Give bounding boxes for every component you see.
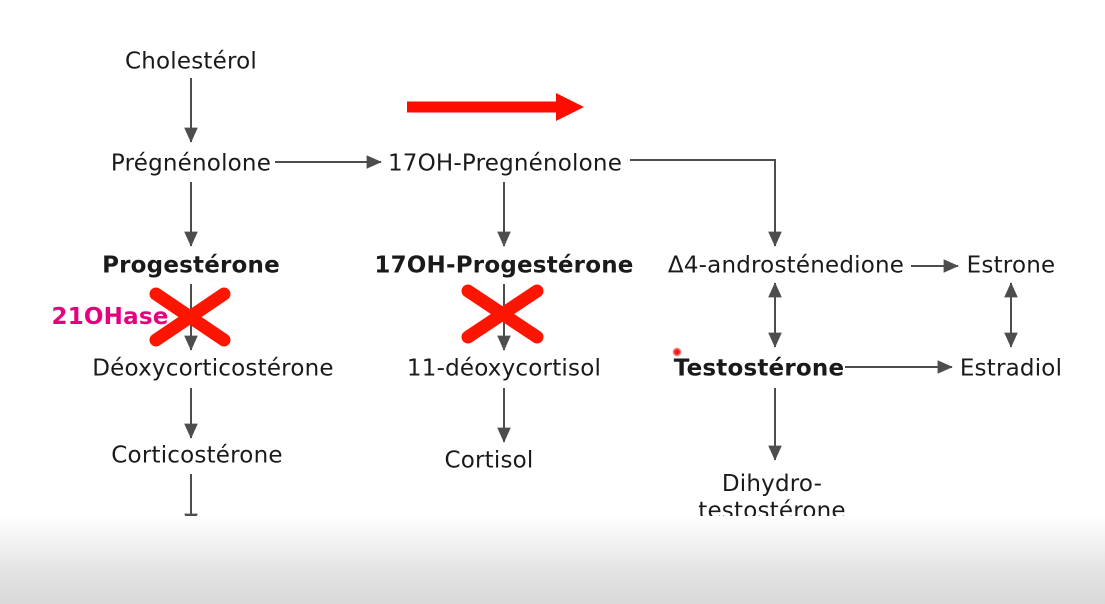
arrow-17oh-pregnenolone-to-androstenedione — [630, 160, 775, 246]
node-dihydrotestosterone: Dihydro- testostérone — [698, 471, 846, 525]
node-testosterone: Testostérone — [674, 357, 845, 382]
laser-pointer-dot — [673, 348, 682, 357]
node-deoxycorticosterone: Déoxycorticostérone — [92, 357, 333, 382]
node-corticosterone: Corticostérone — [111, 444, 282, 469]
node-progesterone: Progestérone — [102, 254, 280, 279]
node-estrone: Estrone — [967, 254, 1056, 279]
node-17oh-pregnenolone: 17OH-Pregnénolone — [388, 152, 622, 177]
node-17oh-progesterone: 17OH-Progestérone — [374, 254, 633, 279]
node-dihydrotestosterone-line-1: Dihydro- — [698, 471, 846, 498]
red-emphasis-arrow — [407, 93, 584, 121]
node-aldosterone: Aldostérone — [127, 536, 267, 561]
node-dihydrotestosterone-line-2: testostérone — [698, 498, 846, 525]
node-11-deoxycortisol: 11-déoxycortisol — [407, 357, 601, 382]
blocked-step-cross-2 — [468, 291, 537, 337]
node-cortisol: Cortisol — [444, 449, 533, 474]
node-cholesterol: Cholestérol — [125, 50, 257, 75]
node-pregnenolone: Prégnénolone — [111, 152, 271, 177]
node-estradiol: Estradiol — [960, 357, 1062, 382]
arrow-layer — [0, 0, 1105, 604]
steroidogenesis-diagram: Cholestérol Prégnénolone Progestérone Dé… — [0, 0, 1105, 604]
node-androstenedione: Δ4-androsténedione — [668, 254, 904, 279]
enzyme-label-21ohase: 21OHase — [51, 304, 168, 330]
